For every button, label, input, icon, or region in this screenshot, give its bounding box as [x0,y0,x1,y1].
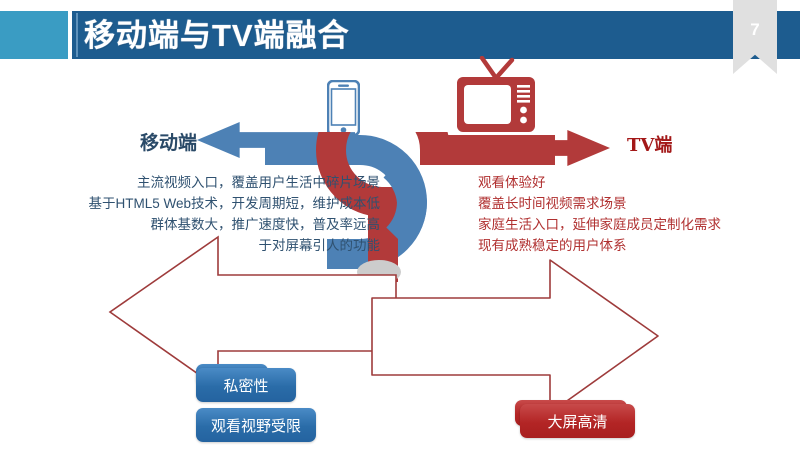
mobile-box-privacy[interactable]: 私密性 [196,368,296,402]
list-item: 家庭生活入口，延伸家庭成员定制化需求 [478,214,798,235]
tv-section-label: TV端 [627,131,672,157]
list-item: 于对屏幕引人的功能 [20,235,380,256]
television-icon [455,56,537,134]
slide-canvas: 移动端与TV端融合 7 移动端 TV端 [0,0,800,449]
page-number-label: 7 [733,20,777,40]
tv-box-bigscreen[interactable]: 大屏高清 [520,404,635,438]
list-item: 现有成熟稳定的用户体系 [478,235,798,256]
header-accent-block [0,11,68,59]
list-item: 基于HTML5 Web技术，开发周期短，维护成本低 [20,193,380,214]
mobile-section-label: 移动端 [140,128,197,155]
list-item: 覆盖长时间视频需求场景 [478,193,798,214]
list-item: 群体基数大，推广速度快，普及率远高 [20,214,380,235]
page-title: 移动端与TV端融合 [84,14,350,58]
chevron-right-outline [370,258,660,415]
list-item: 观看体验好 [478,172,798,193]
list-item: 主流视频入口，覆盖用户生活中碎片场景 [20,172,380,193]
smartphone-icon [327,80,360,136]
mobile-bullet-list: 主流视频入口，覆盖用户生活中碎片场景 基于HTML5 Web技术，开发周期短，维… [20,172,380,256]
tv-bullet-list: 观看体验好 覆盖长时间视频需求场景 家庭生活入口，延伸家庭成员定制化需求 现有成… [478,172,798,256]
mobile-box-viewfield[interactable]: 观看视野受限 [196,408,316,442]
